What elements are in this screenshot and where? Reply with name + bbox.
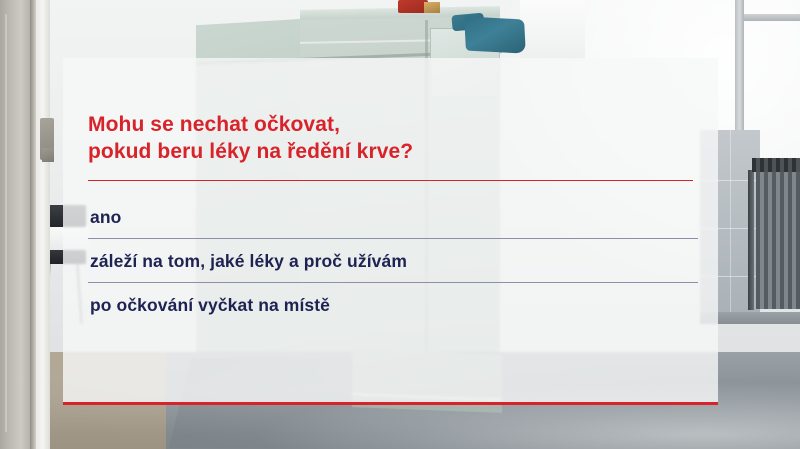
window-frame-top bbox=[744, 14, 800, 21]
door-jamb bbox=[36, 0, 50, 449]
question-text: Mohu se nechat očkovat, pokud beru léky … bbox=[88, 111, 698, 165]
question-line-1: Mohu se nechat očkovat, bbox=[88, 111, 698, 138]
radiator-top bbox=[752, 158, 800, 172]
teal-towel bbox=[464, 16, 526, 53]
question-underline bbox=[88, 180, 693, 181]
answer-option-3[interactable]: po očkování vyčkat na místě bbox=[88, 283, 698, 326]
door-groove bbox=[5, 14, 7, 432]
radiator bbox=[756, 164, 800, 309]
answer-option-2[interactable]: záleží na tom, jaké léky a proč užívám bbox=[88, 239, 698, 283]
question-line-2: pokud beru léky na ředění krve? bbox=[88, 138, 698, 165]
answer-list: ano záleží na tom, jaké léky a proč užív… bbox=[88, 195, 698, 326]
radiator-pipe bbox=[748, 170, 754, 310]
tile-line bbox=[730, 130, 731, 320]
quiz-overlay-panel: Mohu se nechat očkovat, pokud beru léky … bbox=[63, 58, 718, 405]
door-strike-plate bbox=[42, 148, 54, 162]
answer-option-1[interactable]: ano bbox=[88, 195, 698, 239]
white-shelf-unit bbox=[520, 0, 585, 60]
gold-box bbox=[424, 2, 440, 13]
